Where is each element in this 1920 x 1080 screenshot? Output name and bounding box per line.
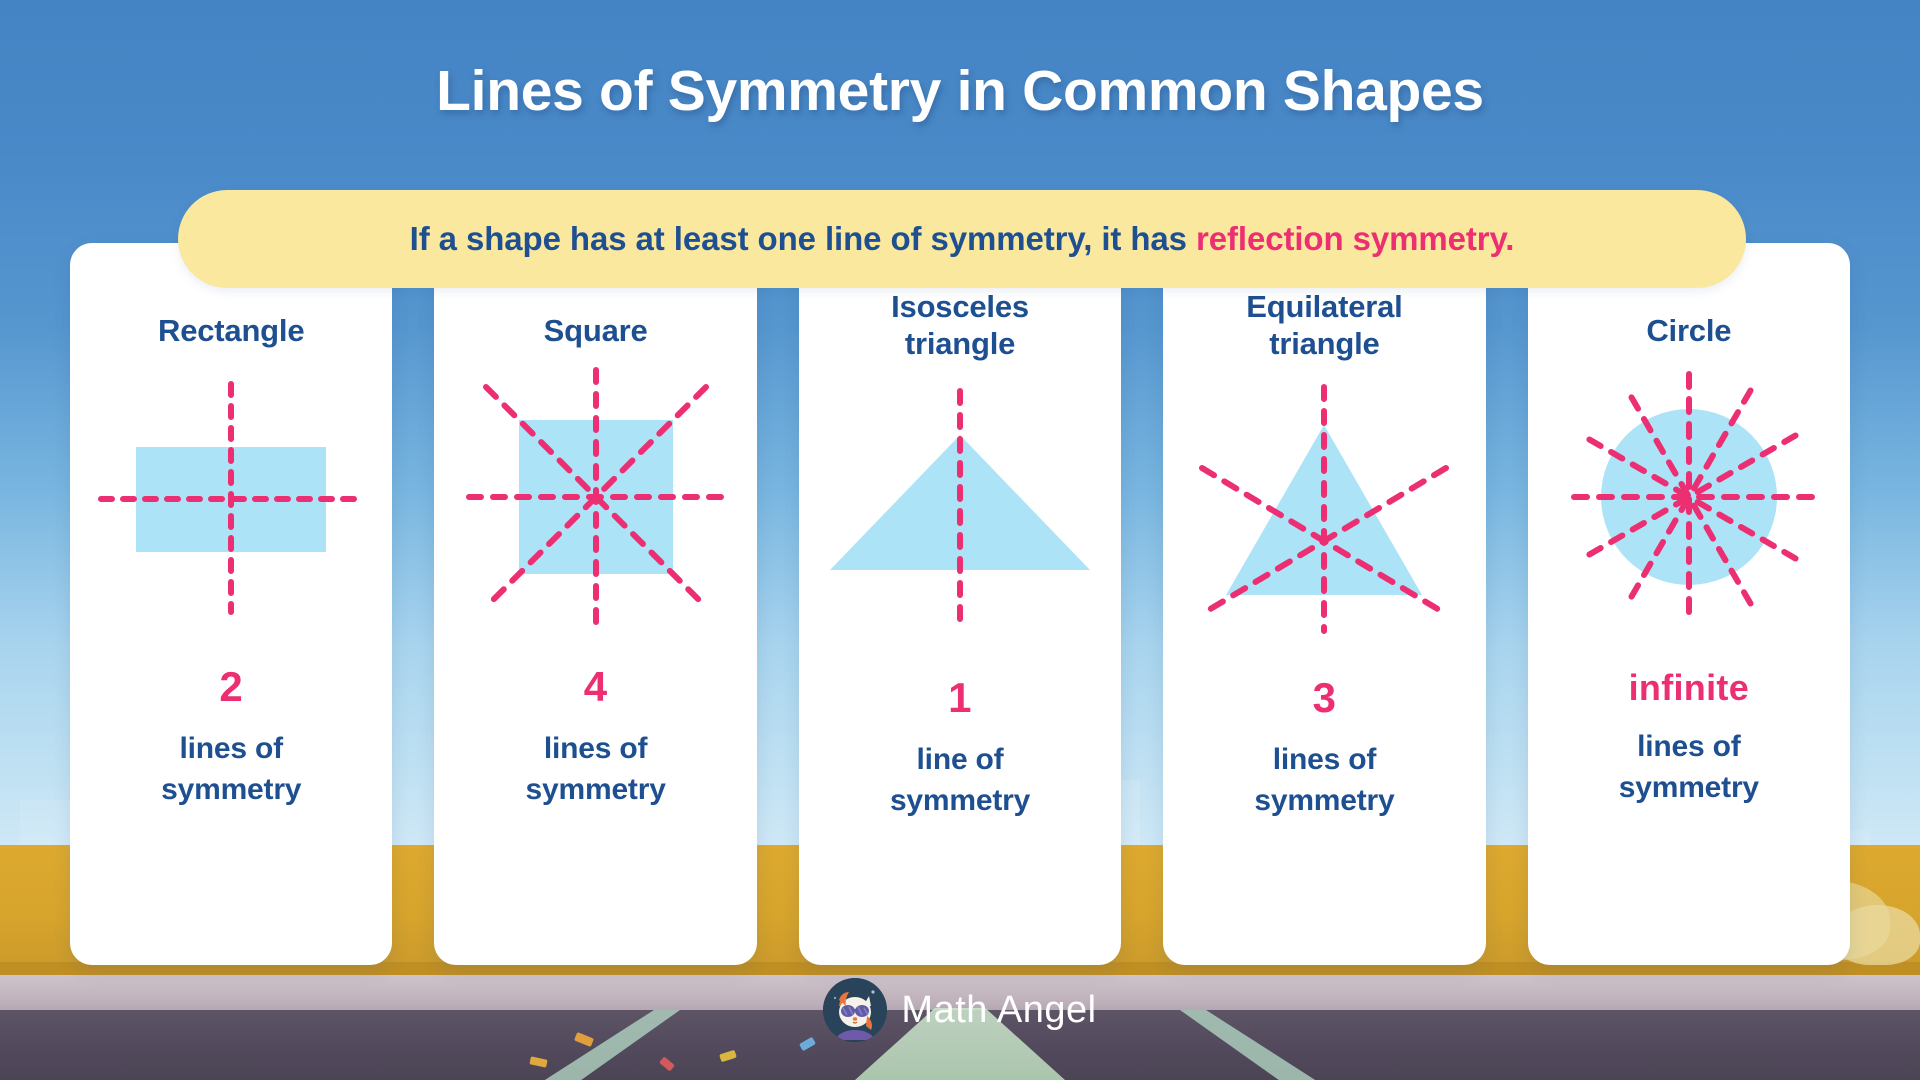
card-caption: lines of symmetry (161, 729, 301, 810)
key-fact-banner: If a shape has at least one line of symm… (178, 190, 1746, 288)
isosceles-triangle-diagram-icon (815, 373, 1105, 643)
caption-line-2: symmetry (890, 784, 1030, 817)
shape-card-square[interactable]: Square 4 lines of symmetry (434, 243, 756, 965)
card-title-line-1: Isosceles (891, 289, 1029, 324)
square-diagram-icon (451, 362, 741, 632)
caption-line-2: symmetry (1619, 771, 1759, 804)
caption-line-1: line of (917, 743, 1004, 776)
caption-line-1: lines of (544, 732, 647, 765)
symmetry-count: 1 (948, 674, 972, 722)
shape-card-rectangle[interactable]: Rectangle 2 lines of symmetry (70, 243, 392, 965)
shape-card-row: Rectangle 2 lines of symmetry Square (70, 243, 1850, 965)
brand-name: Math Angel (901, 989, 1096, 1032)
rectangle-diagram-icon (86, 362, 376, 632)
card-title-line-2: triangle (1269, 326, 1379, 361)
banner-text-highlight: reflection symmetry. (1196, 220, 1514, 257)
card-caption: line of symmetry (890, 740, 1030, 821)
card-title-line-1: Equilateral (1246, 289, 1402, 324)
symmetry-count: 3 (1313, 674, 1337, 722)
symmetry-count: 2 (219, 663, 243, 711)
shape-card-equilateral-triangle[interactable]: Equilateral triangle 3 lines of symmetry (1163, 243, 1485, 965)
rectangle-figure (70, 351, 392, 643)
caption-line-2: symmetry (526, 773, 666, 806)
card-caption: lines of symmetry (1254, 740, 1394, 821)
shape-card-circle[interactable]: Circle infinite lines of symmetry (1528, 243, 1850, 965)
card-caption: lines of symmetry (526, 729, 666, 810)
circle-diagram-icon (1544, 362, 1834, 632)
caption-line-2: symmetry (161, 773, 301, 806)
symmetry-count: infinite (1629, 667, 1749, 709)
card-title-line-2: triangle (905, 326, 1015, 361)
banner-text: If a shape has at least one line of symm… (410, 220, 1515, 258)
brand-logo: Math Angel (0, 978, 1920, 1042)
banner-text-plain: If a shape has at least one line of symm… (410, 220, 1196, 257)
equilateral-triangle-diagram-icon (1179, 373, 1469, 643)
fox-avatar-glyph (823, 978, 887, 1042)
page-title: Lines of Symmetry in Common Shapes (0, 58, 1920, 124)
caption-line-1: lines of (1273, 743, 1376, 776)
circle-figure (1528, 351, 1850, 643)
caption-line-1: lines of (1637, 730, 1740, 763)
caption-line-1: lines of (179, 732, 282, 765)
symmetry-count: 4 (584, 663, 608, 711)
shape-card-isosceles-triangle[interactable]: Isosceles triangle 1 line of symmetry (799, 243, 1121, 965)
card-caption: lines of symmetry (1619, 727, 1759, 808)
isosceles-triangle-figure (799, 362, 1121, 654)
square-figure (434, 351, 756, 643)
equilateral-triangle-figure (1163, 362, 1485, 654)
fox-avatar-icon (823, 978, 887, 1042)
caption-line-2: symmetry (1254, 784, 1394, 817)
